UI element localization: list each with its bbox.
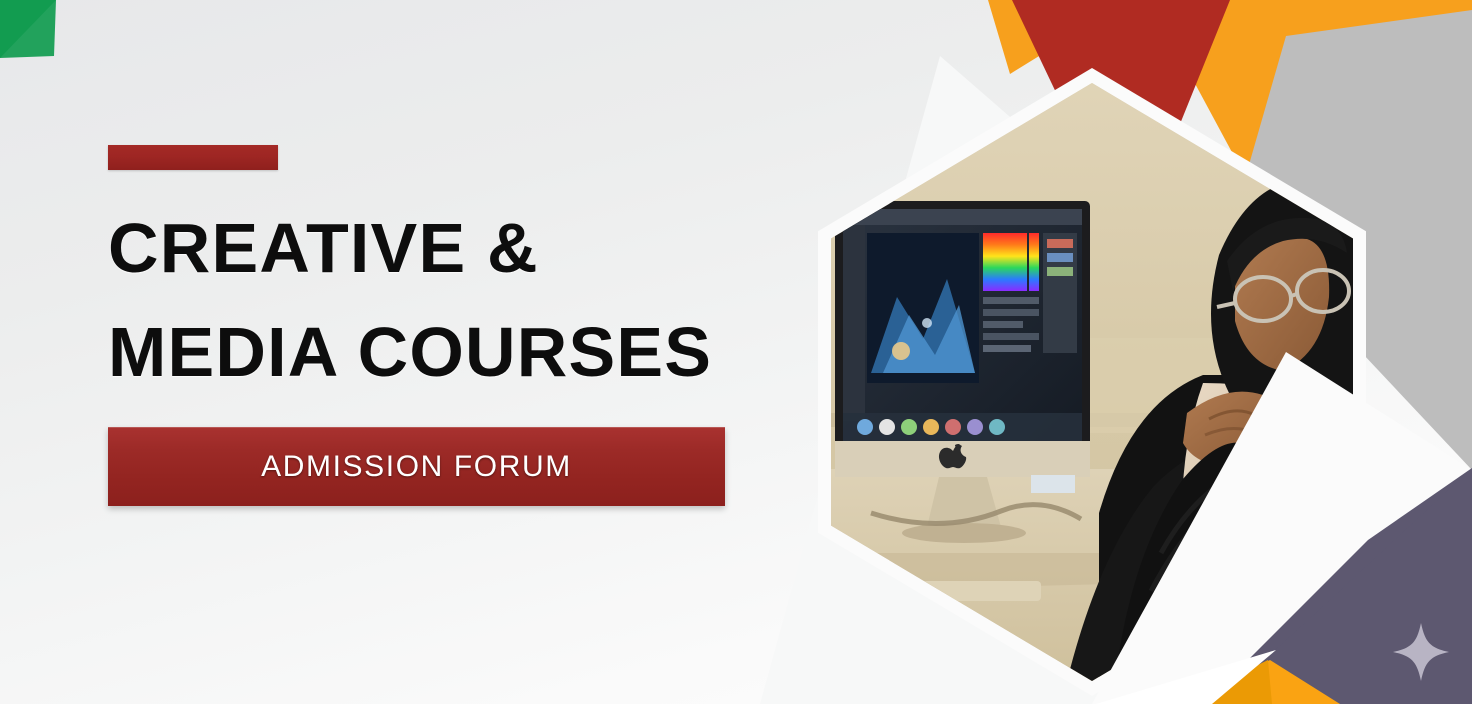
green-corner-shape-light xyxy=(0,0,56,58)
headline-line-1: CREATIVE & xyxy=(108,196,808,300)
red-accent-bar xyxy=(108,145,278,170)
page-title: CREATIVE & MEDIA COURSES xyxy=(108,196,808,404)
student-at-imac-illustration xyxy=(831,83,1353,681)
hexagon-photo-image xyxy=(831,83,1353,681)
promo-banner: CREATIVE & MEDIA COURSES ADMISSION FORUM xyxy=(0,0,1472,704)
orange-shape-top-right xyxy=(1000,0,1472,64)
hexagon-photo xyxy=(818,68,1366,696)
sparkle-star-icon xyxy=(1392,622,1450,682)
admission-forum-button[interactable]: ADMISSION FORUM xyxy=(108,427,725,506)
orange-shape-top-right-left xyxy=(988,0,1130,74)
banner-content: CREATIVE & MEDIA COURSES ADMISSION FORUM xyxy=(108,0,808,704)
headline-line-2: MEDIA COURSES xyxy=(108,300,808,404)
green-corner-shape-dark xyxy=(0,0,56,58)
admission-forum-button-label: ADMISSION FORUM xyxy=(261,450,572,484)
